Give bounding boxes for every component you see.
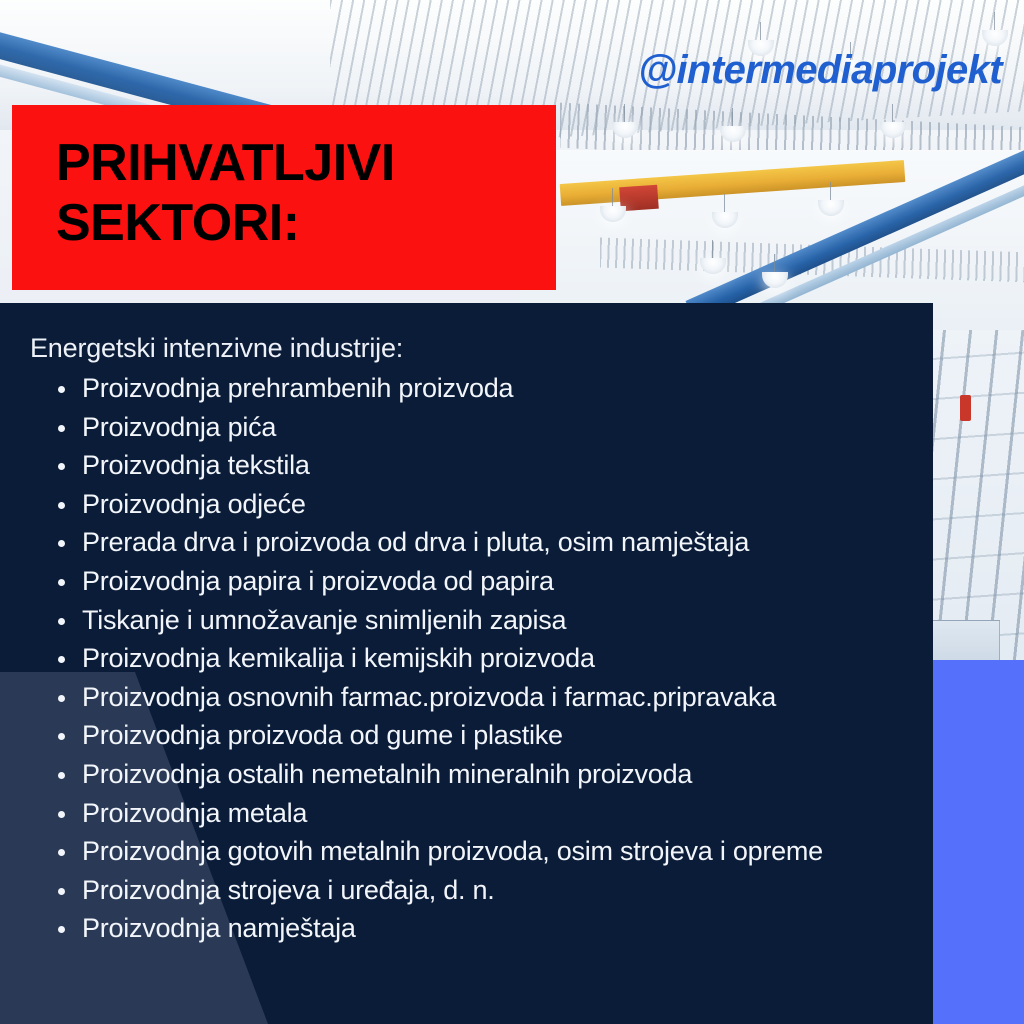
social-handle: @intermediaprojekt: [638, 48, 1002, 93]
title-banner: PRIHVATLJIVI SEKTORI:: [12, 105, 556, 290]
sector-list-item: Proizvodnja gotovih metalnih proizvoda, …: [50, 832, 933, 871]
poster-canvas: @intermediaprojekt PRIHVATLJIVI SEKTORI:…: [0, 0, 1024, 1024]
page-title-line-1: PRIHVATLJIVI: [56, 133, 536, 193]
sector-list-item: Proizvodnja odjeće: [50, 485, 933, 524]
content-panel: Energetski intenzivne industrije: Proizv…: [0, 303, 933, 1024]
sector-list-item: Tiskanje i umnožavanje snimljenih zapisa: [50, 601, 933, 640]
sector-list-item: Proizvodnja strojeva i uređaja, d. n.: [50, 871, 933, 910]
sector-list: Proizvodnja prehrambenih proizvodaProizv…: [50, 369, 933, 948]
sector-list-item: Proizvodnja ostalih nemetalnih mineralni…: [50, 755, 933, 794]
sector-list-item: Prerada drva i proizvoda od drva i pluta…: [50, 523, 933, 562]
sector-list-item: Proizvodnja tekstila: [50, 446, 933, 485]
page-title: PRIHVATLJIVI SEKTORI:: [56, 133, 536, 254]
sector-list-item: Proizvodnja osnovnih farmac.proizvoda i …: [50, 678, 933, 717]
page-title-line-2: SEKTORI:: [56, 193, 536, 253]
sector-list-item: Proizvodnja metala: [50, 794, 933, 833]
sector-list-item: Proizvodnja proizvoda od gume i plastike: [50, 716, 933, 755]
sector-list-item: Proizvodnja namještaja: [50, 909, 933, 948]
sector-list-item: Proizvodnja pića: [50, 408, 933, 447]
content-intro-text: Energetski intenzivne industrije:: [30, 333, 403, 364]
accent-blue-block: [933, 660, 1024, 1024]
sector-list-item: Proizvodnja kemikalija i kemijskih proiz…: [50, 639, 933, 678]
sector-list-item: Proizvodnja prehrambenih proizvoda: [50, 369, 933, 408]
sector-list-item: Proizvodnja papira i proizvoda od papira: [50, 562, 933, 601]
content-panel-inner: Energetski intenzivne industrije: Proizv…: [0, 303, 933, 1024]
